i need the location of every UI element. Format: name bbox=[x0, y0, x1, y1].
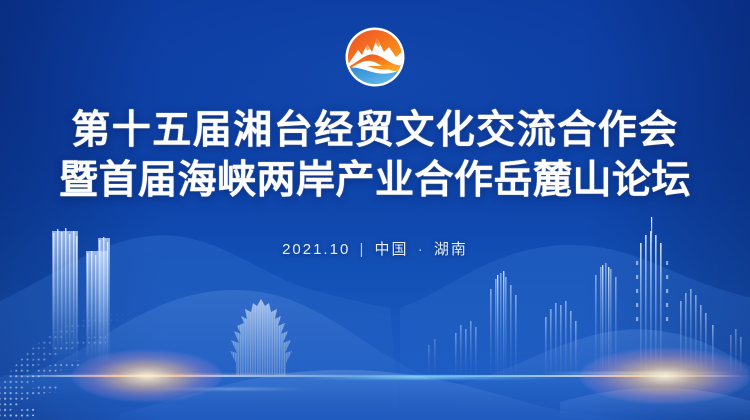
subtitle-date: 2021.10 bbox=[282, 241, 350, 258]
subtitle-country: 中国 bbox=[375, 241, 409, 258]
event-banner: 第十五届湘台经贸文化交流合作会 暨首届海峡两岸产业合作岳麓山论坛 2021.10… bbox=[0, 0, 750, 420]
title-line-2: 暨首届海峡两岸产业合作岳麓山论坛 bbox=[0, 156, 750, 206]
banner-title: 第十五届湘台经贸文化交流合作会 暨首届海峡两岸产业合作岳麓山论坛 bbox=[0, 106, 750, 206]
subtitle-dot: · bbox=[415, 241, 428, 258]
dotted-arc-wave bbox=[0, 302, 260, 420]
event-logo bbox=[344, 26, 406, 88]
banner-subtitle: 2021.10 | 中国 · 湖南 bbox=[0, 238, 750, 259]
horizon-light-line bbox=[0, 375, 750, 377]
subtitle-province: 湖南 bbox=[434, 241, 468, 258]
title-line-1: 第十五届湘台经贸文化交流合作会 bbox=[0, 106, 750, 156]
subtitle-divider: | bbox=[356, 241, 368, 258]
